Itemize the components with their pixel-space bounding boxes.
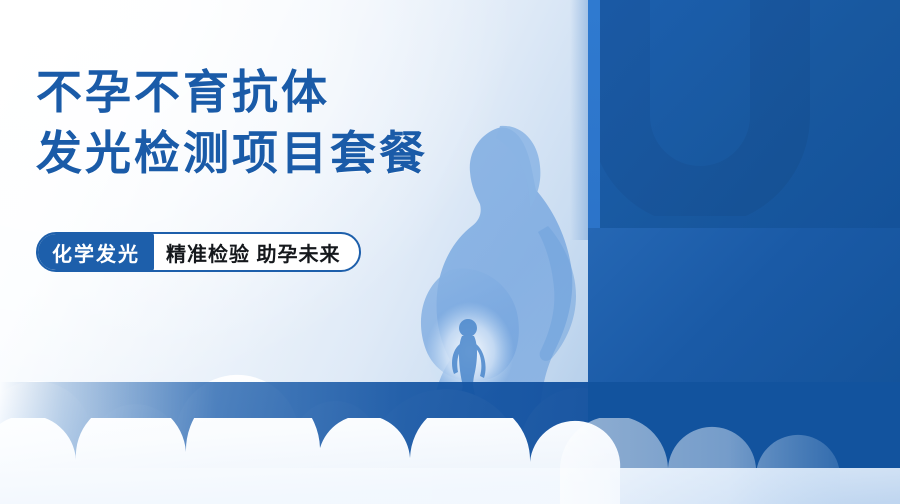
tagline-highlight: 化学发光 — [36, 232, 154, 272]
background-glow — [0, 0, 520, 400]
headline-line-1: 不孕不育抗体 — [36, 62, 556, 123]
panel-left-edge — [570, 0, 590, 240]
blue-panel-lower — [588, 228, 900, 384]
tagline-pill: 化学发光 精准检验 助孕未来 — [36, 232, 361, 272]
headline-block: 不孕不育抗体 发光检测项目套餐 — [36, 62, 556, 183]
promo-banner: 不孕不育抗体 发光检测项目套餐 化学发光 精准检验 助孕未来 — [0, 0, 900, 504]
accent-band-right — [588, 382, 900, 468]
blue-panel-top — [600, 0, 900, 228]
headline-line-2: 发光检测项目套餐 — [36, 123, 556, 184]
tagline-text: 精准检验 助孕未来 — [154, 234, 359, 270]
